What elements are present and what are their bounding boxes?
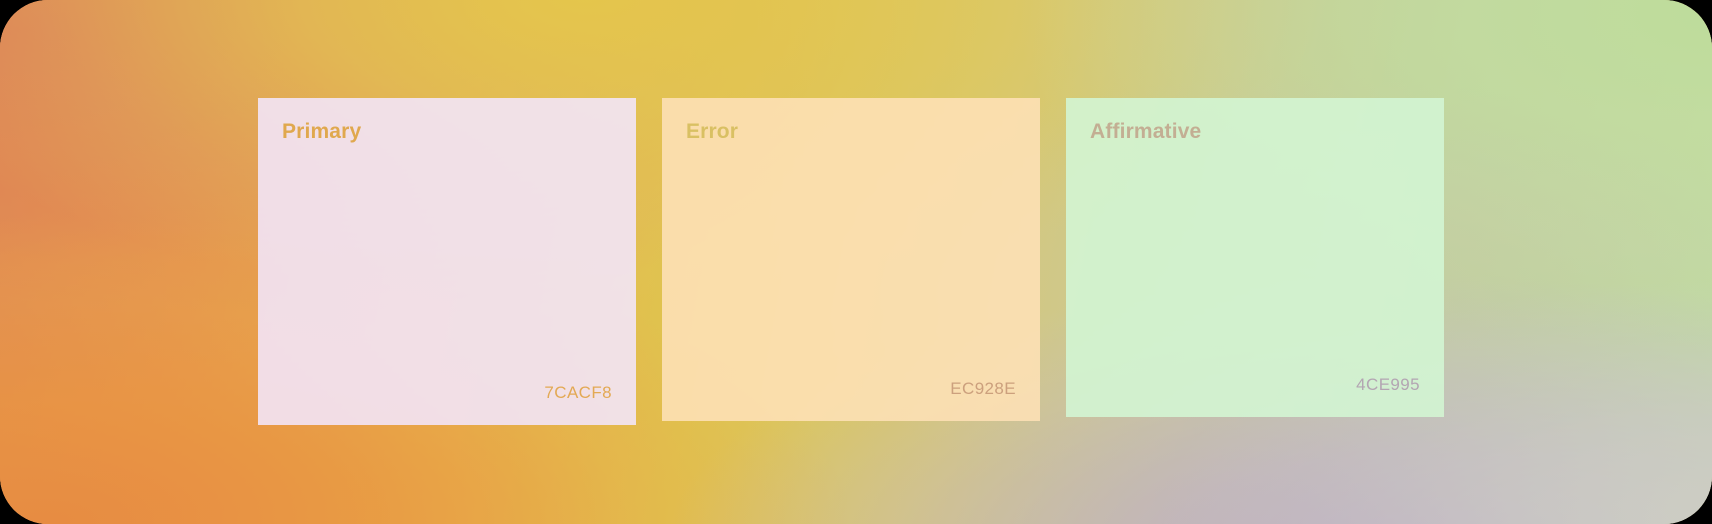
swatch-hex-value: EC928E [686, 380, 1016, 399]
color-swatch-primary[interactable]: Primary 7CACF8 [258, 98, 636, 425]
swatch-name-label: Affirmative [1090, 120, 1420, 143]
swatch-name-label: Error [686, 120, 1016, 143]
swatch-hex-value: 4CE995 [1090, 376, 1420, 395]
color-swatch-error[interactable]: Error EC928E [662, 98, 1040, 421]
color-swatch-affirmative[interactable]: Affirmative 4CE995 [1066, 98, 1444, 417]
swatch-name-label: Primary [282, 120, 612, 143]
palette-stage: Primary 7CACF8 Error EC928E Affirmative … [0, 0, 1712, 524]
swatch-hex-value: 7CACF8 [282, 384, 612, 403]
